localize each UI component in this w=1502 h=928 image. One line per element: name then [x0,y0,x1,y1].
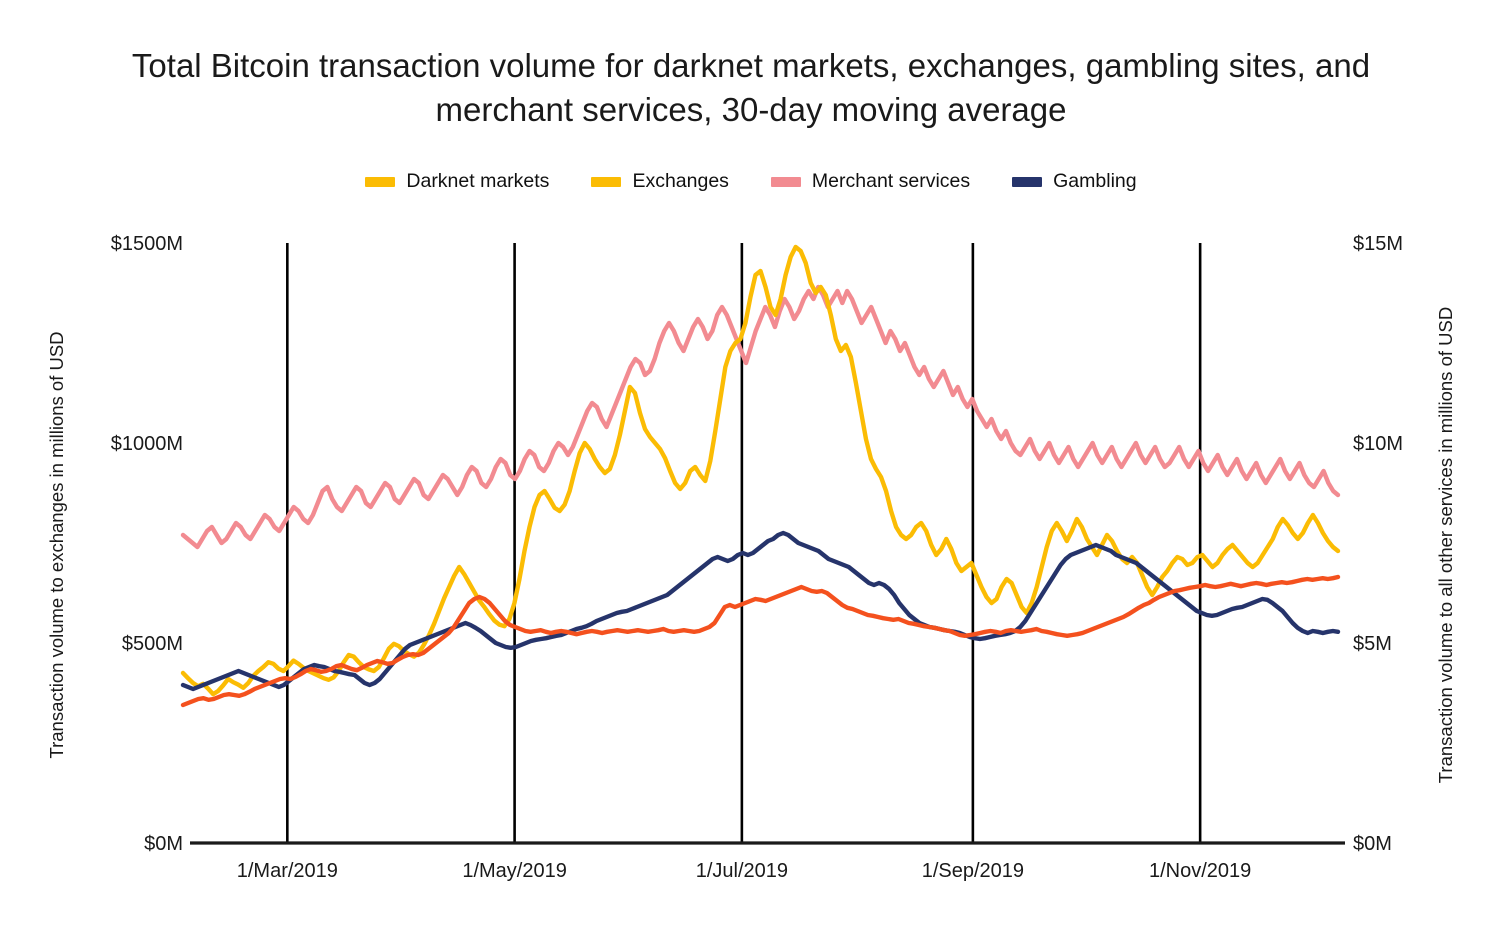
y-axis-right-tick-10M: $10M [1353,433,1403,455]
x-axis-ticks: 1/Mar/20191/May/20191/Jul/20191/Sep/2019… [237,860,1252,882]
x-axis-tick-1-Nov-2019: 1/Nov/2019 [1149,860,1251,882]
y-axis-left-title: Transaction volume to exchanges in milli… [46,331,67,758]
y-axis-right-ticks: $0M$5M$10M$15M [1353,233,1403,855]
y-axis-right-tick-5M: $5M [1353,633,1392,655]
y-axis-left-ticks: $0M$500M$1000M$1500M [111,233,183,855]
x-axis-tick-1-Jul-2019: 1/Jul/2019 [696,860,788,882]
series-line-merchant-services [183,287,1338,547]
y-axis-left-tick-1500M: $1500M [111,233,183,255]
y-axis-left-tick-500M: $500M [122,633,183,655]
y-axis-right-tick-0M: $0M [1353,833,1392,855]
series-line-darknet-markets [183,577,1338,705]
y-axis-right-title: Transaction volume to all other services… [1435,307,1456,783]
series-lines [183,247,1338,705]
series-line-gambling [183,533,1338,689]
plot-area: $0M$500M$1000M$1500M $0M$5M$10M$15M 1/Ma… [0,0,1502,928]
x-axis-tick-1-Mar-2019: 1/Mar/2019 [237,860,338,882]
chart-container: Total Bitcoin transaction volume for dar… [0,0,1502,928]
y-axis-left-tick-1000M: $1000M [111,433,183,455]
x-axis-tick-1-May-2019: 1/May/2019 [462,860,567,882]
y-axis-right-tick-15M: $15M [1353,233,1403,255]
y-axis-left-tick-0M: $0M [144,833,183,855]
x-axis-tick-1-Sep-2019: 1/Sep/2019 [922,860,1024,882]
